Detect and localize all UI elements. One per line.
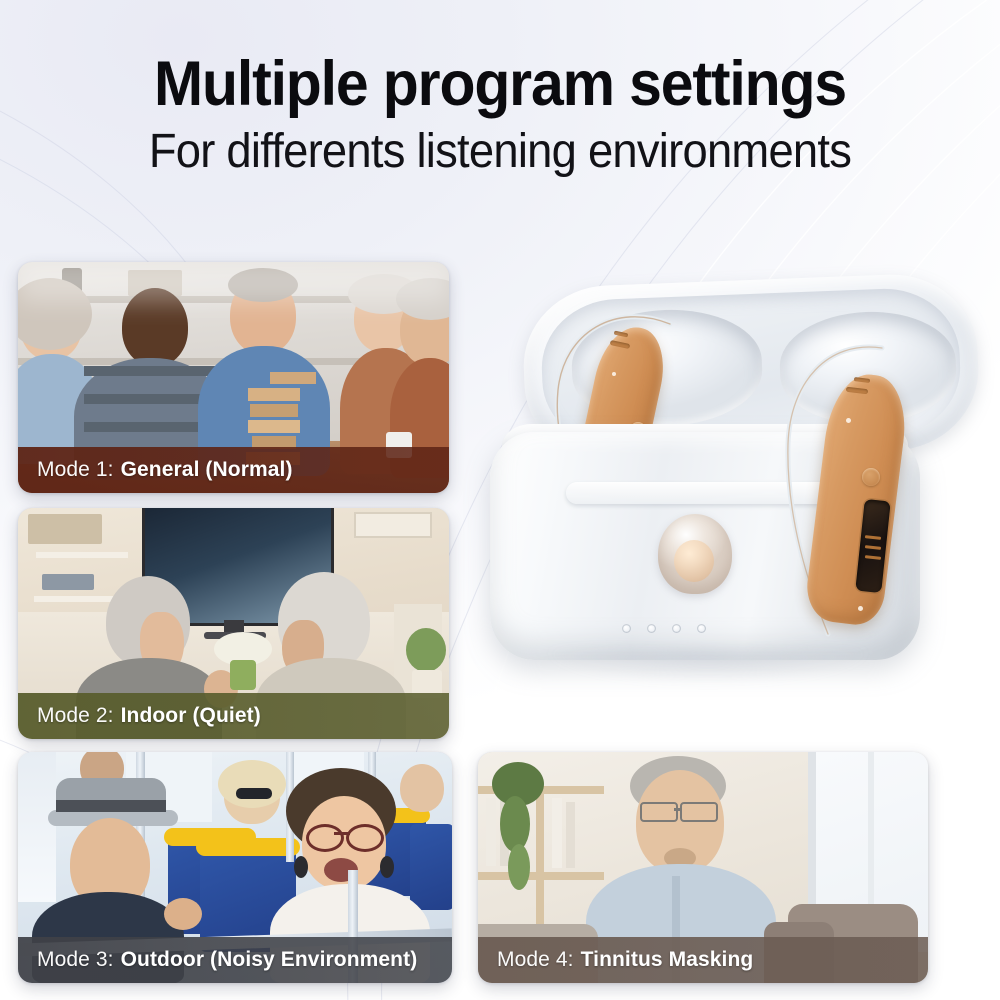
led-indicator-4 xyxy=(697,624,706,633)
ear-dome-core xyxy=(674,540,714,582)
hearing-aid-right-button xyxy=(862,468,880,486)
product-image-charging-case xyxy=(462,268,1000,700)
mode-2-label: Mode 2: xyxy=(37,704,114,728)
mode-3-name: Outdoor (Noisy Environment) xyxy=(121,948,418,972)
mode-3-caption: Mode 3: Outdoor (Noisy Environment) xyxy=(18,937,452,983)
battery-level-indicator-leds xyxy=(622,624,706,633)
mode-1-label: Mode 1: xyxy=(37,458,114,482)
mode-1-caption: Mode 1: General (Normal) xyxy=(18,447,449,493)
mode-card-2[interactable]: Mode 2: Indoor (Quiet) xyxy=(18,508,449,739)
page-subtitle: For differents listening environments xyxy=(28,127,973,177)
mode-4-name: Tinnitus Masking xyxy=(581,948,754,972)
mode-card-4[interactable]: Mode 4: Tinnitus Masking xyxy=(478,752,928,983)
mode-4-caption: Mode 4: Tinnitus Masking xyxy=(478,937,928,983)
mode-card-3[interactable]: Mode 3: Outdoor (Noisy Environment) xyxy=(18,752,452,983)
page-title: Multiple program settings xyxy=(33,52,968,118)
led-indicator-3 xyxy=(672,624,681,633)
mode-3-label: Mode 3: xyxy=(37,948,114,972)
hearing-aid-right-indicator xyxy=(846,418,851,423)
hearing-aid-right-indicator-2 xyxy=(858,606,863,611)
product-reflection xyxy=(482,650,934,716)
led-indicator-2 xyxy=(647,624,656,633)
hearing-aid-left-indicator xyxy=(612,372,616,376)
mode-2-caption: Mode 2: Indoor (Quiet) xyxy=(18,693,449,739)
mode-1-name: General (Normal) xyxy=(121,458,293,482)
headline-block: Multiple program settings For differents… xyxy=(0,52,1000,177)
mode-4-label: Mode 4: xyxy=(497,948,574,972)
promo-graphic: Multiple program settings For differents… xyxy=(0,0,1000,1000)
mode-2-name: Indoor (Quiet) xyxy=(121,704,261,728)
mode-card-1[interactable]: Mode 1: General (Normal) xyxy=(18,262,449,493)
led-indicator-1 xyxy=(622,624,631,633)
